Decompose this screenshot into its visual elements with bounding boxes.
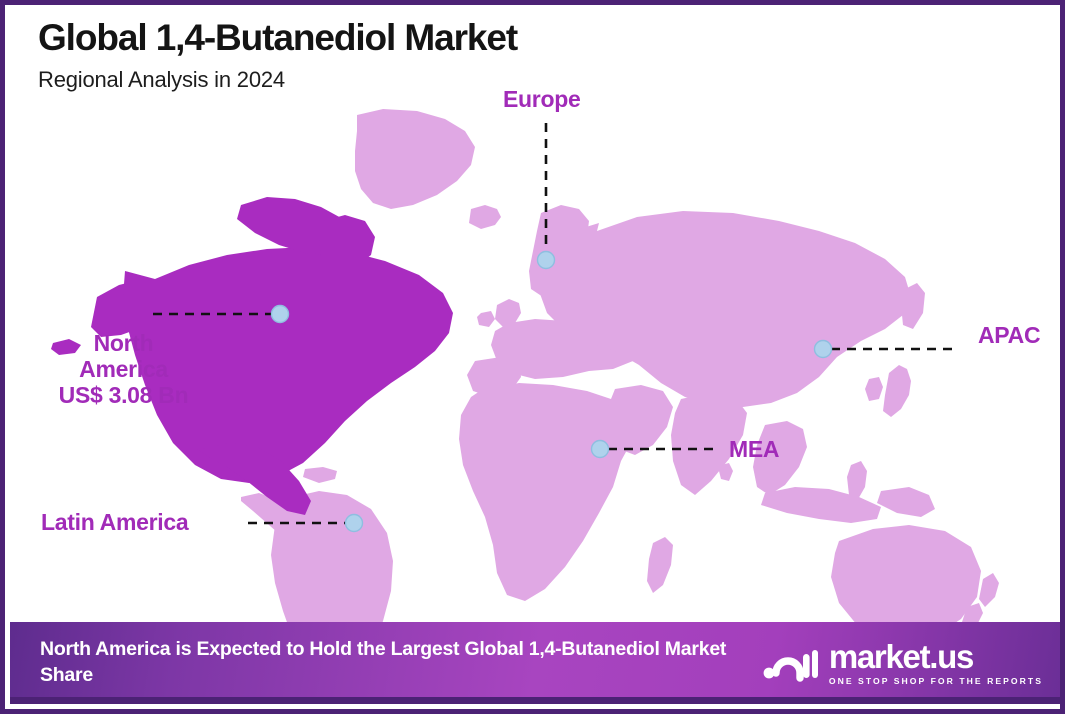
region-label-mea: MEA — [729, 437, 779, 463]
sri-lanka-shape — [719, 463, 733, 481]
south-america-shape — [271, 491, 393, 633]
banner-bottom-strip — [10, 697, 1065, 704]
region-label-europe: Europe — [503, 87, 580, 113]
asia-shape — [539, 211, 911, 407]
bottom-banner: North America is Expected to Hold the La… — [10, 622, 1065, 704]
iceland-shape — [469, 205, 501, 229]
region-label-apac: APAC — [978, 323, 1040, 349]
region-label-north-america: North America US$ 3.08 Bn — [41, 331, 206, 408]
logo-text-block: market.us ONE STOP SHOP FOR THE REPORTS — [829, 640, 1043, 686]
indonesia-shape — [761, 487, 881, 523]
greenland-shape — [355, 109, 475, 209]
madagascar-shape — [647, 537, 673, 593]
caribbean-shape — [303, 467, 337, 483]
logo-tagline: ONE STOP SHOP FOR THE REPORTS — [829, 677, 1043, 686]
banner-headline: North America is Expected to Hold the La… — [40, 637, 762, 688]
header: Global 1,4-Butanediol Market Regional An… — [38, 19, 517, 93]
new-zealand-shape — [979, 573, 999, 607]
japan-shape — [883, 365, 911, 417]
infographic-root: Global 1,4-Butanediol Market Regional An… — [0, 0, 1065, 714]
new-guinea-shape — [877, 487, 935, 517]
korea-shape — [865, 377, 883, 401]
arabia-shape — [607, 385, 673, 455]
market-us-logo[interactable]: market.us ONE STOP SHOP FOR THE REPORTS — [762, 640, 1043, 686]
region-label-latin-america: Latin America — [41, 510, 188, 536]
ireland-shape — [477, 311, 495, 327]
australia-shape — [831, 525, 981, 633]
logo-wordmark: market.us — [829, 640, 1043, 673]
page-title: Global 1,4-Butanediol Market — [38, 19, 517, 58]
page-subtitle: Regional Analysis in 2024 — [38, 67, 517, 93]
market-us-logo-mark — [762, 643, 818, 683]
